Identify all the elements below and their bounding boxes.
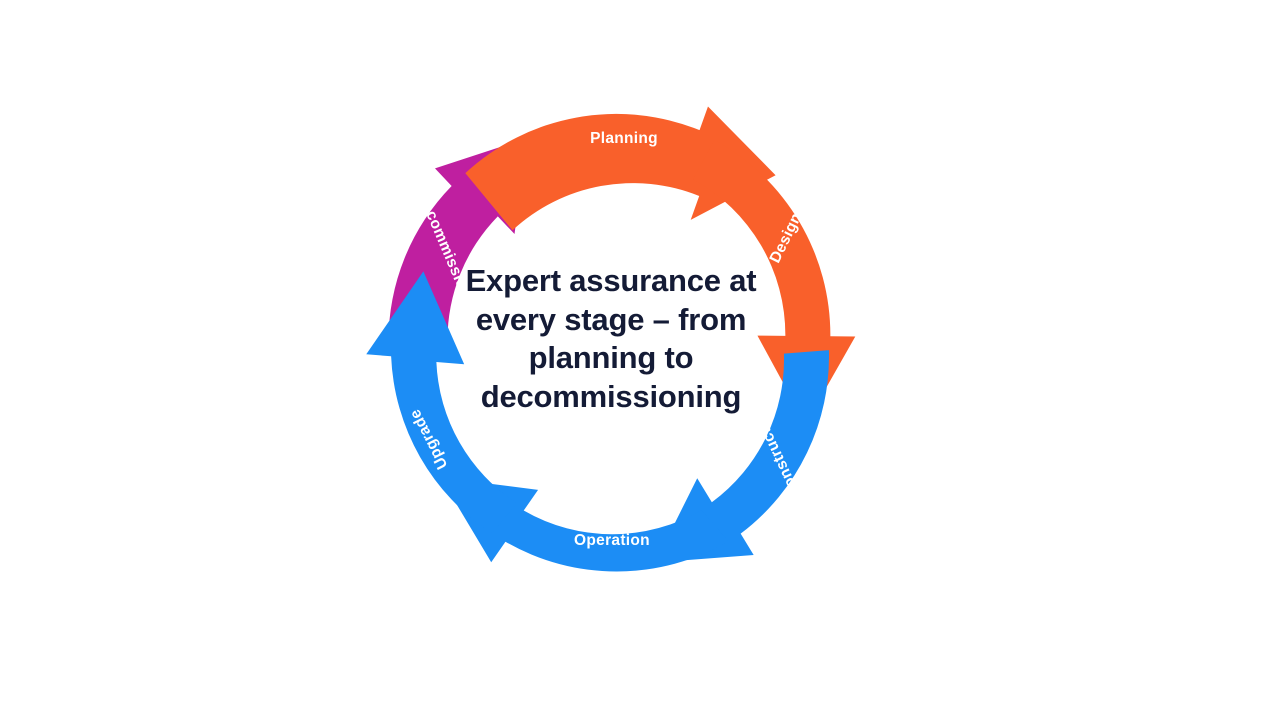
planning-label: Planning bbox=[590, 130, 658, 147]
center-caption: Expert assurance at every stage – from p… bbox=[440, 262, 782, 416]
diagram-canvas: Decommissioning Planning Design Construc… bbox=[0, 0, 1280, 720]
operation-label: Operation bbox=[574, 532, 650, 549]
